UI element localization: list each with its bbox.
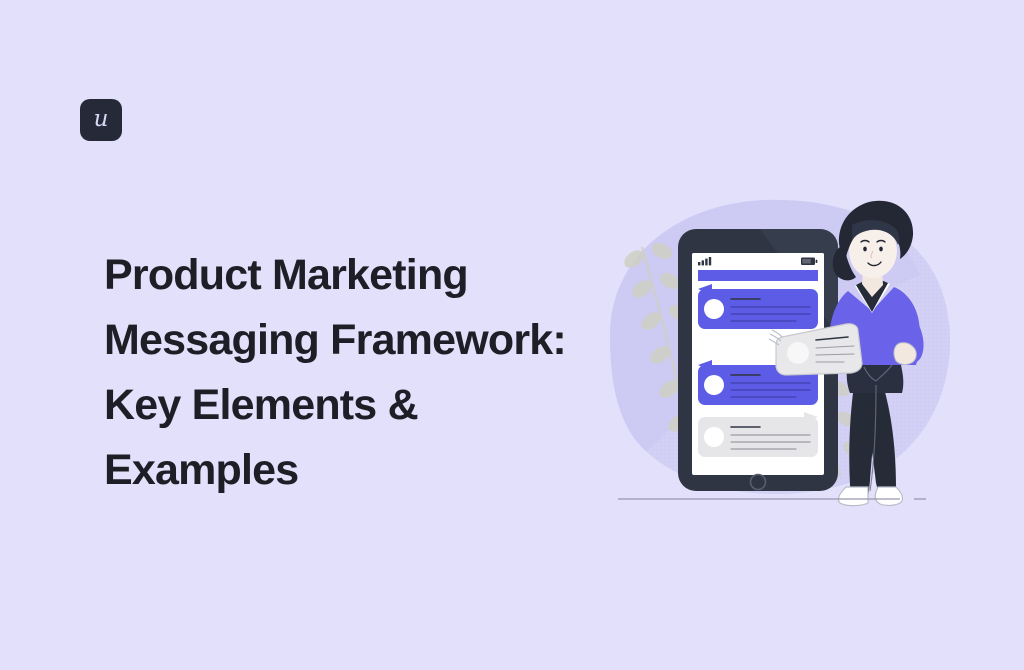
page-title: Product Marketing Messaging Framework: K… bbox=[104, 243, 574, 503]
hero-illustration bbox=[600, 185, 980, 525]
logo-glyph: u bbox=[94, 108, 109, 131]
userpilot-logo[interactable]: u bbox=[80, 99, 122, 141]
chat-bubble-3 bbox=[698, 412, 818, 457]
chat-bubble-1 bbox=[698, 284, 818, 329]
battery-icon bbox=[801, 258, 817, 266]
app-header-bar bbox=[698, 270, 818, 281]
hero-banner-page: u Product Marketing Messaging Framework:… bbox=[0, 0, 1024, 670]
